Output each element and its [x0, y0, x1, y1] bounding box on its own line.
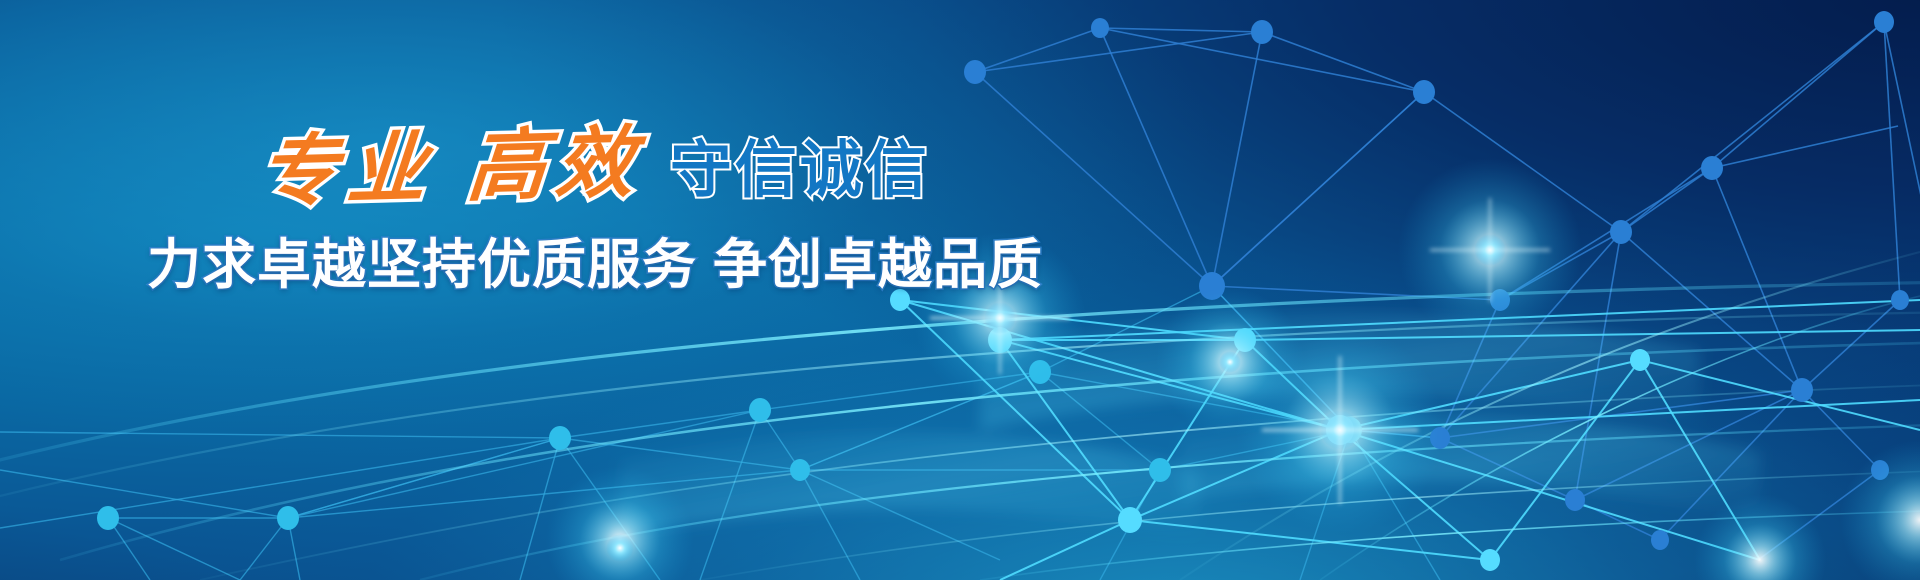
subheadline-text: 力求卓越坚持优质服务 争创卓越品质	[0, 220, 1190, 299]
headline-accent-text: 守信诚信	[670, 140, 930, 202]
headline-block: 专业 高效守信诚信 力求卓越坚持优质服务 争创卓越品质	[0, 128, 1190, 299]
hero-banner: 专业 高效守信诚信 力求卓越坚持优质服务 争创卓越品质	[0, 0, 1920, 580]
headline-brush-text: 专业 高效	[257, 123, 648, 211]
headline-row: 专业 高效守信诚信	[0, 128, 1190, 206]
